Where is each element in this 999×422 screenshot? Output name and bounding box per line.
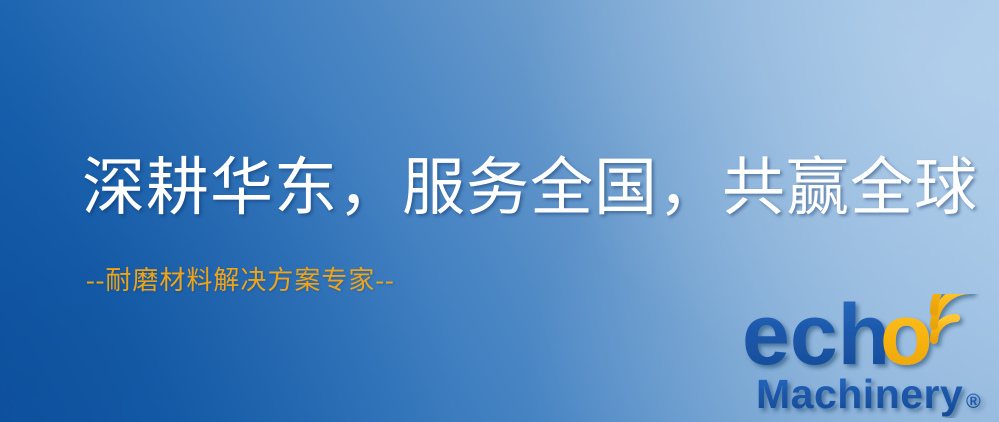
logo-wordmark-gold-o: o bbox=[880, 294, 933, 383]
banner-subtitle: --耐磨材料解决方案专家-- bbox=[86, 264, 395, 298]
logo-text-machinery: Machinery bbox=[756, 371, 963, 417]
logo-text-o: o bbox=[880, 294, 933, 383]
logo-tagline-group: Machinery ® bbox=[756, 371, 981, 417]
logo-wordmark-blue: ech bbox=[742, 294, 890, 383]
logo-svg: ech o Machinery ® bbox=[742, 294, 999, 418]
registered-trademark-icon: ® bbox=[966, 391, 981, 413]
signal-arcs-icon bbox=[934, 294, 984, 340]
banner-headline: 深耕华东，服务全国，共赢全球 bbox=[82, 152, 978, 224]
promo-banner: 深耕华东，服务全国，共赢全球 --耐磨材料解决方案专家-- bbox=[0, 0, 999, 422]
logo-text-ech: ech bbox=[742, 294, 890, 383]
echo-machinery-logo[interactable]: ech o Machinery ® bbox=[742, 294, 999, 418]
